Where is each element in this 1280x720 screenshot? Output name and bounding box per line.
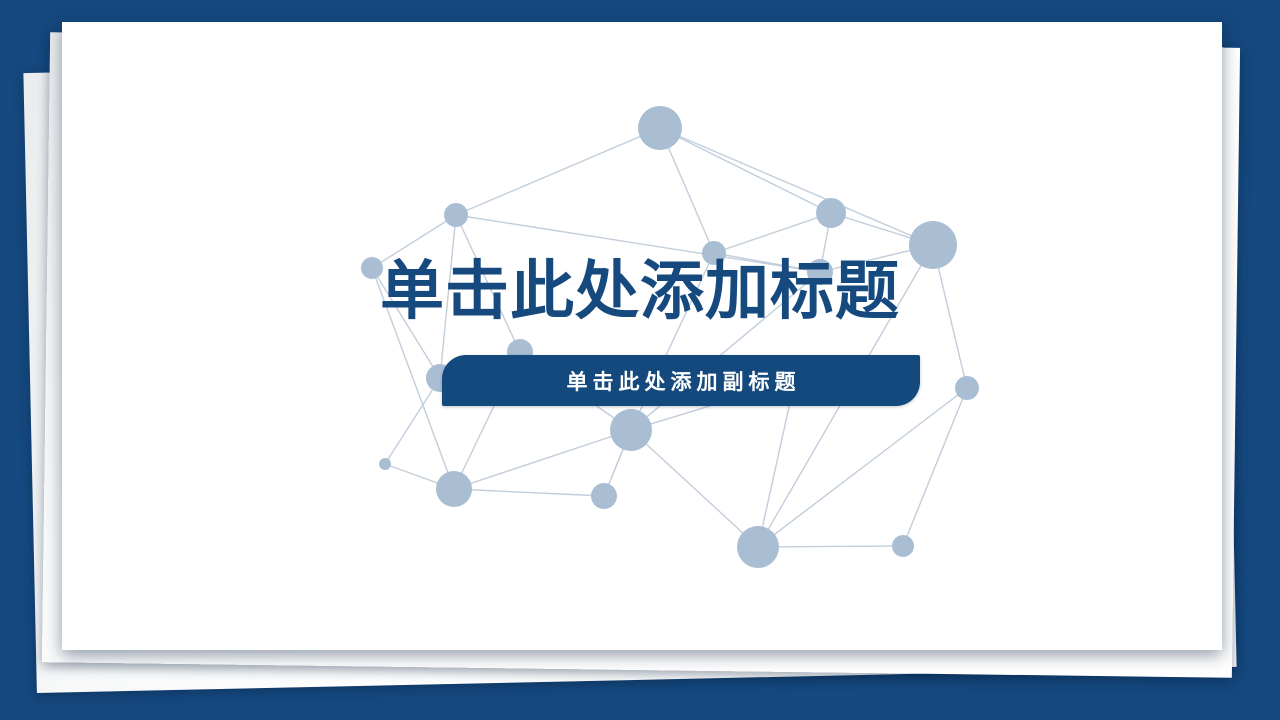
subtitle-text[interactable]: 单击此处添加副标题 <box>562 366 801 396</box>
page-title[interactable]: 单击此处添加标题 <box>0 256 1280 328</box>
title-block: 单击此处添加标题 <box>0 256 1280 328</box>
slide-canvas: 单击此处添加标题 单击此处添加副标题 <box>0 0 1280 720</box>
subtitle-bar[interactable]: 单击此处添加副标题 <box>442 355 920 406</box>
paper-sheet-front <box>62 22 1222 650</box>
